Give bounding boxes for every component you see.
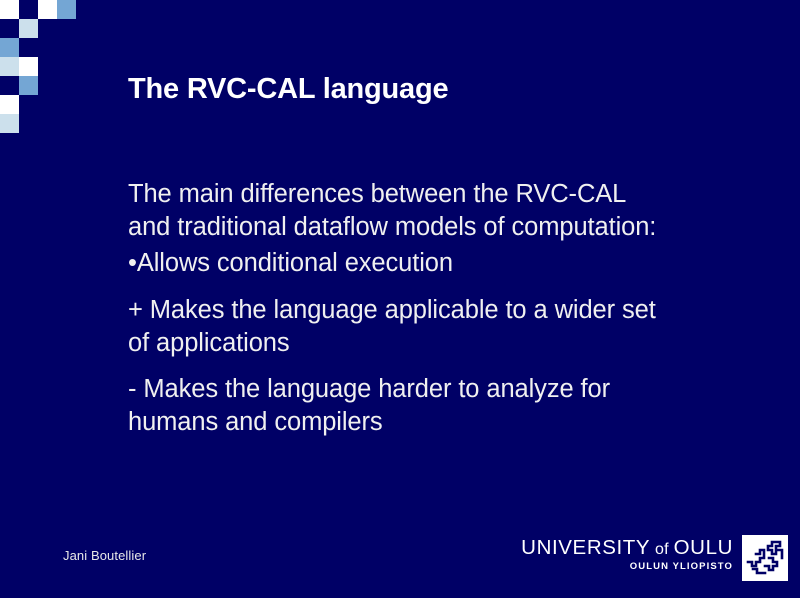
mosaic-cell — [0, 95, 19, 114]
mosaic-cell — [19, 19, 38, 38]
mosaic-cell — [19, 0, 38, 19]
pro-point-line-2: of applications — [128, 327, 738, 360]
logo-of-word: of — [650, 541, 673, 558]
con-point: - Makes the language harder to analyze f… — [128, 373, 738, 438]
presentation-slide: The RVC-CAL language The main difference… — [0, 0, 800, 598]
mosaic-cell — [0, 57, 19, 76]
mosaic-cell — [0, 38, 19, 57]
mosaic-cell — [38, 0, 57, 19]
mosaic-cell — [57, 0, 76, 19]
spacer — [128, 359, 738, 373]
intro-line-2: and traditional dataflow models of compu… — [128, 211, 738, 244]
pro-point: + Makes the language applicable to a wid… — [128, 294, 738, 359]
mosaic-cell — [0, 0, 19, 19]
con-point-line-2: humans and compilers — [128, 406, 738, 439]
mosaic-cell — [0, 76, 19, 95]
logo-university-word: UNIVERSITY — [521, 536, 650, 559]
mosaic-cell — [0, 114, 19, 133]
bullet-item-1: •Allows conditional execution — [128, 247, 738, 280]
footer-author-name: Jani Boutellier — [63, 548, 146, 563]
logo-subtitle-text: OULUN YLIOPISTO — [630, 561, 733, 572]
mosaic-cell — [19, 57, 38, 76]
corner-mosaic-decoration — [0, 0, 80, 136]
intro-paragraph: The main differences between the RVC-CAL… — [128, 178, 738, 243]
oulu-labyrinth-icon — [742, 535, 788, 581]
pro-point-line-1: + Makes the language applicable to a wid… — [128, 294, 738, 327]
spacer — [128, 280, 738, 294]
logo-oulu-word: OULU — [674, 536, 733, 559]
page-title: The RVC-CAL language — [128, 73, 768, 106]
intro-line-1: The main differences between the RVC-CAL — [128, 178, 738, 211]
mosaic-cell — [19, 76, 38, 95]
con-point-line-1: - Makes the language harder to analyze f… — [128, 373, 738, 406]
slide-body: The main differences between the RVC-CAL… — [128, 178, 738, 438]
mosaic-cell — [0, 19, 19, 38]
mosaic-cell — [19, 38, 38, 57]
logo-wordmark: UNIVERSITY of OULU OULUN YLIOPISTO — [521, 535, 733, 572]
university-logo: UNIVERSITY of OULU OULUN YLIOPISTO — [521, 535, 788, 583]
logo-main-text: UNIVERSITY of OULU — [521, 537, 733, 559]
